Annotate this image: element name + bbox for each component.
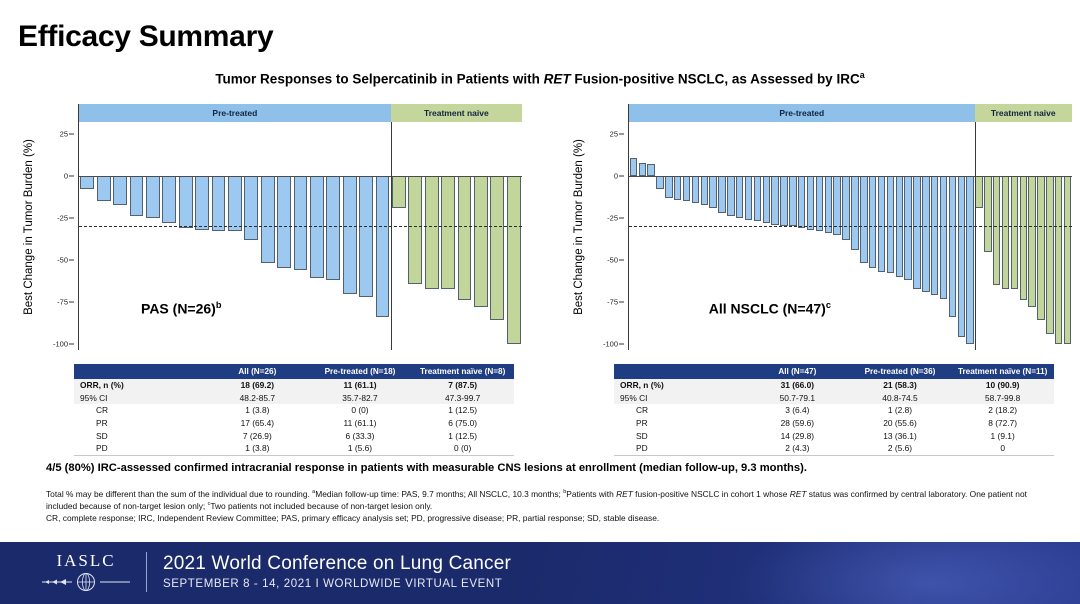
conference-dates: SEPTEMBER 8 - 14, 2021 I WORLDWIDE VIRTU… (163, 578, 511, 590)
bar (506, 134, 522, 344)
bar (886, 134, 895, 344)
y-tick-mark (619, 260, 624, 261)
bar (966, 134, 975, 344)
table-row: ORR, n (%)18 (69.2)11 (61.1)7 (87.5) (74, 379, 514, 392)
bar (656, 134, 665, 344)
banner-treatment-naive-right: Treatment naive (975, 104, 1072, 122)
y-tick-label: -25 (607, 214, 618, 223)
bar (992, 134, 1001, 344)
table-row-label: ORR, n (%) (74, 379, 206, 392)
cohort-divider (975, 122, 976, 350)
table-row: CR3 (6.4)1 (2.8)2 (18.2) (614, 404, 1054, 417)
bar (1028, 134, 1037, 344)
bar (358, 134, 374, 344)
bar (895, 134, 904, 344)
bar (691, 134, 700, 344)
bar (1001, 134, 1010, 344)
bar (859, 134, 868, 344)
y-tick-label: -50 (57, 256, 68, 265)
table-cell: 1 (3.8) (206, 442, 309, 455)
conference-footer: IASLC 2021 World Conference on Lung Canc… (0, 542, 1080, 604)
bars-right (629, 134, 1072, 344)
bar (1054, 134, 1063, 344)
table-row: PD2 (4.3)2 (5.6)0 (614, 442, 1054, 455)
table-cell: 2 (4.3) (746, 442, 849, 455)
bar (948, 134, 957, 344)
table-cell: 31 (66.0) (746, 379, 849, 392)
y-axis-ticks-right: 250-25-50-75-100 (590, 104, 624, 350)
bar (975, 134, 984, 344)
table-row: 95% CI48.2-85.735.7-82.747.3-99.7 (74, 392, 514, 405)
table-row: 95% CI50.7-79.140.8-74.558.7-99.8 (614, 392, 1054, 405)
table-cell: 18 (69.2) (206, 379, 309, 392)
chart-heading: Tumor Responses to Selpercatinib in Pati… (0, 70, 1080, 87)
bar (473, 134, 489, 344)
bar (904, 134, 913, 344)
table-row: CR1 (3.8)0 (0)1 (12.5) (74, 404, 514, 417)
bar (913, 134, 922, 344)
table-cell: 11 (61.1) (309, 417, 412, 430)
table-cell: 35.7-82.7 (309, 392, 412, 405)
reference-line-30 (629, 226, 1072, 227)
bar (1045, 134, 1054, 344)
results-table: All (N=47)Pre-treated (N=36)Treatment na… (614, 364, 1054, 456)
table-cell: 1 (12.5) (411, 429, 514, 442)
table-cell: 0 (951, 442, 1054, 455)
iaslc-wordmark: IASLC (32, 551, 140, 571)
y-tick-label: -50 (607, 256, 618, 265)
table-row-label: CR (614, 404, 746, 417)
footer-divider (146, 552, 147, 592)
table-header-cell: Treatment naïve (N=11) (951, 364, 1054, 379)
table-row: PR28 (59.6)20 (55.6)8 (72.7) (614, 417, 1054, 430)
table-cell: 1 (2.8) (849, 404, 952, 417)
table-header-cell: Treatment naïve (N=8) (411, 364, 514, 379)
bar (673, 134, 682, 344)
results-table-pas: All (N=26)Pre-treated (N=18)Treatment na… (74, 364, 514, 456)
bar (647, 134, 656, 344)
bar (1010, 134, 1019, 344)
table-cell: 28 (59.6) (746, 417, 849, 430)
table-cell: 7 (26.9) (206, 429, 309, 442)
y-tick-label: 0 (614, 172, 618, 181)
y-tick-label: -25 (57, 214, 68, 223)
group-banner-left: Pre-treated Treatment naive (79, 104, 522, 122)
zero-line (79, 176, 522, 177)
table-header-row: All (N=47)Pre-treated (N=36)Treatment na… (614, 364, 1054, 379)
bar (456, 134, 472, 344)
y-tick-mark (69, 260, 74, 261)
iaslc-logo: IASLC (32, 551, 140, 592)
table-cell: 20 (55.6) (849, 417, 952, 430)
table-cell: 1 (9.1) (951, 429, 1054, 442)
bar (374, 134, 390, 344)
iaslc-emblem-icon (32, 572, 140, 592)
table-cell: 13 (36.1) (849, 429, 952, 442)
table-row: ORR, n (%)31 (66.0)21 (58.3)10 (90.9) (614, 379, 1054, 392)
bar (227, 134, 243, 344)
bar (342, 134, 358, 344)
y-tick-label: 25 (610, 130, 618, 139)
bar (700, 134, 709, 344)
footnotes: Total % may be different than the sum of… (46, 488, 1046, 525)
reference-line-30 (79, 226, 522, 227)
footer-text: 2021 World Conference on Lung Cancer SEP… (163, 553, 511, 590)
results-table-all-nsclc: All (N=47)Pre-treated (N=36)Treatment na… (614, 364, 1054, 456)
chart-heading-footnote-marker: a (860, 70, 865, 80)
bar (424, 134, 440, 344)
table-header-row: All (N=26)Pre-treated (N=18)Treatment na… (74, 364, 514, 379)
plot-area-right: Pre-treated Treatment naive All NSCLC (N… (628, 104, 1072, 350)
bar (877, 134, 886, 344)
table-cell: 17 (65.4) (206, 417, 309, 430)
table-cell: 1 (12.5) (411, 404, 514, 417)
table-cell: 0 (0) (309, 404, 412, 417)
table-row: PD1 (3.8)1 (5.6)0 (0) (74, 442, 514, 455)
bar (851, 134, 860, 344)
zero-line (629, 176, 1072, 177)
bar (842, 134, 851, 344)
bar (930, 134, 939, 344)
bar (1063, 134, 1072, 344)
bar (638, 134, 647, 344)
bar (983, 134, 992, 344)
bar (325, 134, 341, 344)
table-row-label: SD (614, 429, 746, 442)
table-cell: 1 (3.8) (206, 404, 309, 417)
y-tick-mark (69, 218, 74, 219)
table-cell: 21 (58.3) (849, 379, 952, 392)
bar (1037, 134, 1046, 344)
y-tick-label: -100 (53, 340, 68, 349)
y-tick-label: 0 (64, 172, 68, 181)
conference-name: 2021 World Conference on Lung Cancer (163, 553, 511, 575)
table-cell: 2 (18.2) (951, 404, 1054, 417)
table-row-label: 95% CI (74, 392, 206, 405)
banner-pre-treated-right: Pre-treated (629, 104, 975, 122)
banner-pre-treated-left: Pre-treated (79, 104, 391, 122)
y-tick-label: -100 (603, 340, 618, 349)
bar (921, 134, 930, 344)
y-tick-mark (619, 176, 624, 177)
panel-caption-left: PAS (N=26)b (141, 300, 221, 317)
table-cell: 10 (90.9) (951, 379, 1054, 392)
bar (112, 134, 128, 344)
table-cell: 48.2-85.7 (206, 392, 309, 405)
table-cell: 6 (75.0) (411, 417, 514, 430)
table-cell: 1 (5.6) (309, 442, 412, 455)
y-axis-ticks-left: 250-25-50-75-100 (40, 104, 74, 350)
y-tick-label: 25 (60, 130, 68, 139)
table-row-label: CR (74, 404, 206, 417)
bar (833, 134, 842, 344)
bar (309, 134, 325, 344)
page-title: Efficacy Summary (18, 20, 273, 54)
callout-text: 4/5 (80%) IRC-assessed confirmed intracr… (46, 462, 1046, 474)
table-cell: 11 (61.1) (309, 379, 412, 392)
banner-treatment-naive-left: Treatment naive (391, 104, 522, 122)
bar (292, 134, 308, 344)
chart-heading-part1: Tumor Responses to Selpercatinib in Pati… (215, 72, 543, 87)
y-tick-mark (69, 302, 74, 303)
bar (259, 134, 275, 344)
bar (489, 134, 505, 344)
table-row-label: PD (74, 442, 206, 455)
y-tick-mark (69, 134, 74, 135)
bar (407, 134, 423, 344)
table-header-cell: Pre-treated (N=18) (309, 364, 412, 379)
bar (243, 134, 259, 344)
chart-panel-all-nsclc: Best Change in Tumor Burden (%) 250-25-5… (572, 104, 1072, 350)
table-header-cell (74, 364, 206, 379)
table-cell: 58.7-99.8 (951, 392, 1054, 405)
group-banner-right: Pre-treated Treatment naive (629, 104, 1072, 122)
bar (957, 134, 966, 344)
table-cell: 7 (87.5) (411, 379, 514, 392)
table-row: SD14 (29.8)13 (36.1)1 (9.1) (614, 429, 1054, 442)
table-cell: 6 (33.3) (309, 429, 412, 442)
y-tick-label: -75 (607, 298, 618, 307)
table-cell: 0 (0) (411, 442, 514, 455)
bar (629, 134, 638, 344)
table-row-label: ORR, n (%) (614, 379, 746, 392)
y-tick-label: -75 (57, 298, 68, 307)
table-cell: 14 (29.8) (746, 429, 849, 442)
table-cell: 8 (72.7) (951, 417, 1054, 430)
results-table: All (N=26)Pre-treated (N=18)Treatment na… (74, 364, 514, 456)
table-cell: 50.7-79.1 (746, 392, 849, 405)
bar (868, 134, 877, 344)
table-row: SD7 (26.9)6 (33.3)1 (12.5) (74, 429, 514, 442)
y-axis-label-right: Best Change in Tumor Burden (%) (568, 104, 590, 350)
table-header-cell (614, 364, 746, 379)
bar (664, 134, 673, 344)
bar (939, 134, 948, 344)
chart-panel-pas: Best Change in Tumor Burden (%) 250-25-5… (22, 104, 522, 350)
footnote-line-3: CR, complete response; IRC, Independent … (46, 512, 1046, 524)
y-axis-label-left: Best Change in Tumor Burden (%) (18, 104, 40, 350)
y-tick-mark (619, 302, 624, 303)
bar (391, 134, 407, 344)
table-row-label: SD (74, 429, 206, 442)
table-row-label: PD (614, 442, 746, 455)
bar (95, 134, 111, 344)
table-header-cell: All (N=26) (206, 364, 309, 379)
table-row-label: 95% CI (614, 392, 746, 405)
footnote-line-1: Total % may be different than the sum of… (46, 488, 1046, 512)
panel-caption-right: All NSCLC (N=47)c (709, 300, 831, 317)
y-tick-mark (69, 176, 74, 177)
chart-heading-part2: Fusion-positive NSCLC, as Assessed by IR… (571, 72, 860, 87)
table-header-cell: Pre-treated (N=36) (849, 364, 952, 379)
table-row-label: PR (74, 417, 206, 430)
y-tick-mark (619, 218, 624, 219)
table-cell: 47.3-99.7 (411, 392, 514, 405)
bar (276, 134, 292, 344)
table-header-cell: All (N=47) (746, 364, 849, 379)
bar (79, 134, 95, 344)
table-row-label: PR (614, 417, 746, 430)
y-tick-mark (69, 344, 74, 345)
table-cell: 40.8-74.5 (849, 392, 952, 405)
bar (682, 134, 691, 344)
cohort-divider (391, 122, 392, 350)
y-tick-mark (619, 134, 624, 135)
table-cell: 3 (6.4) (746, 404, 849, 417)
table-cell: 2 (5.6) (849, 442, 952, 455)
table-row: PR17 (65.4)11 (61.1)6 (75.0) (74, 417, 514, 430)
plot-area-left: Pre-treated Treatment naive PAS (N=26)b (78, 104, 522, 350)
bar (1019, 134, 1028, 344)
y-tick-mark (619, 344, 624, 345)
chart-heading-gene: RET (544, 72, 571, 87)
bar (440, 134, 456, 344)
